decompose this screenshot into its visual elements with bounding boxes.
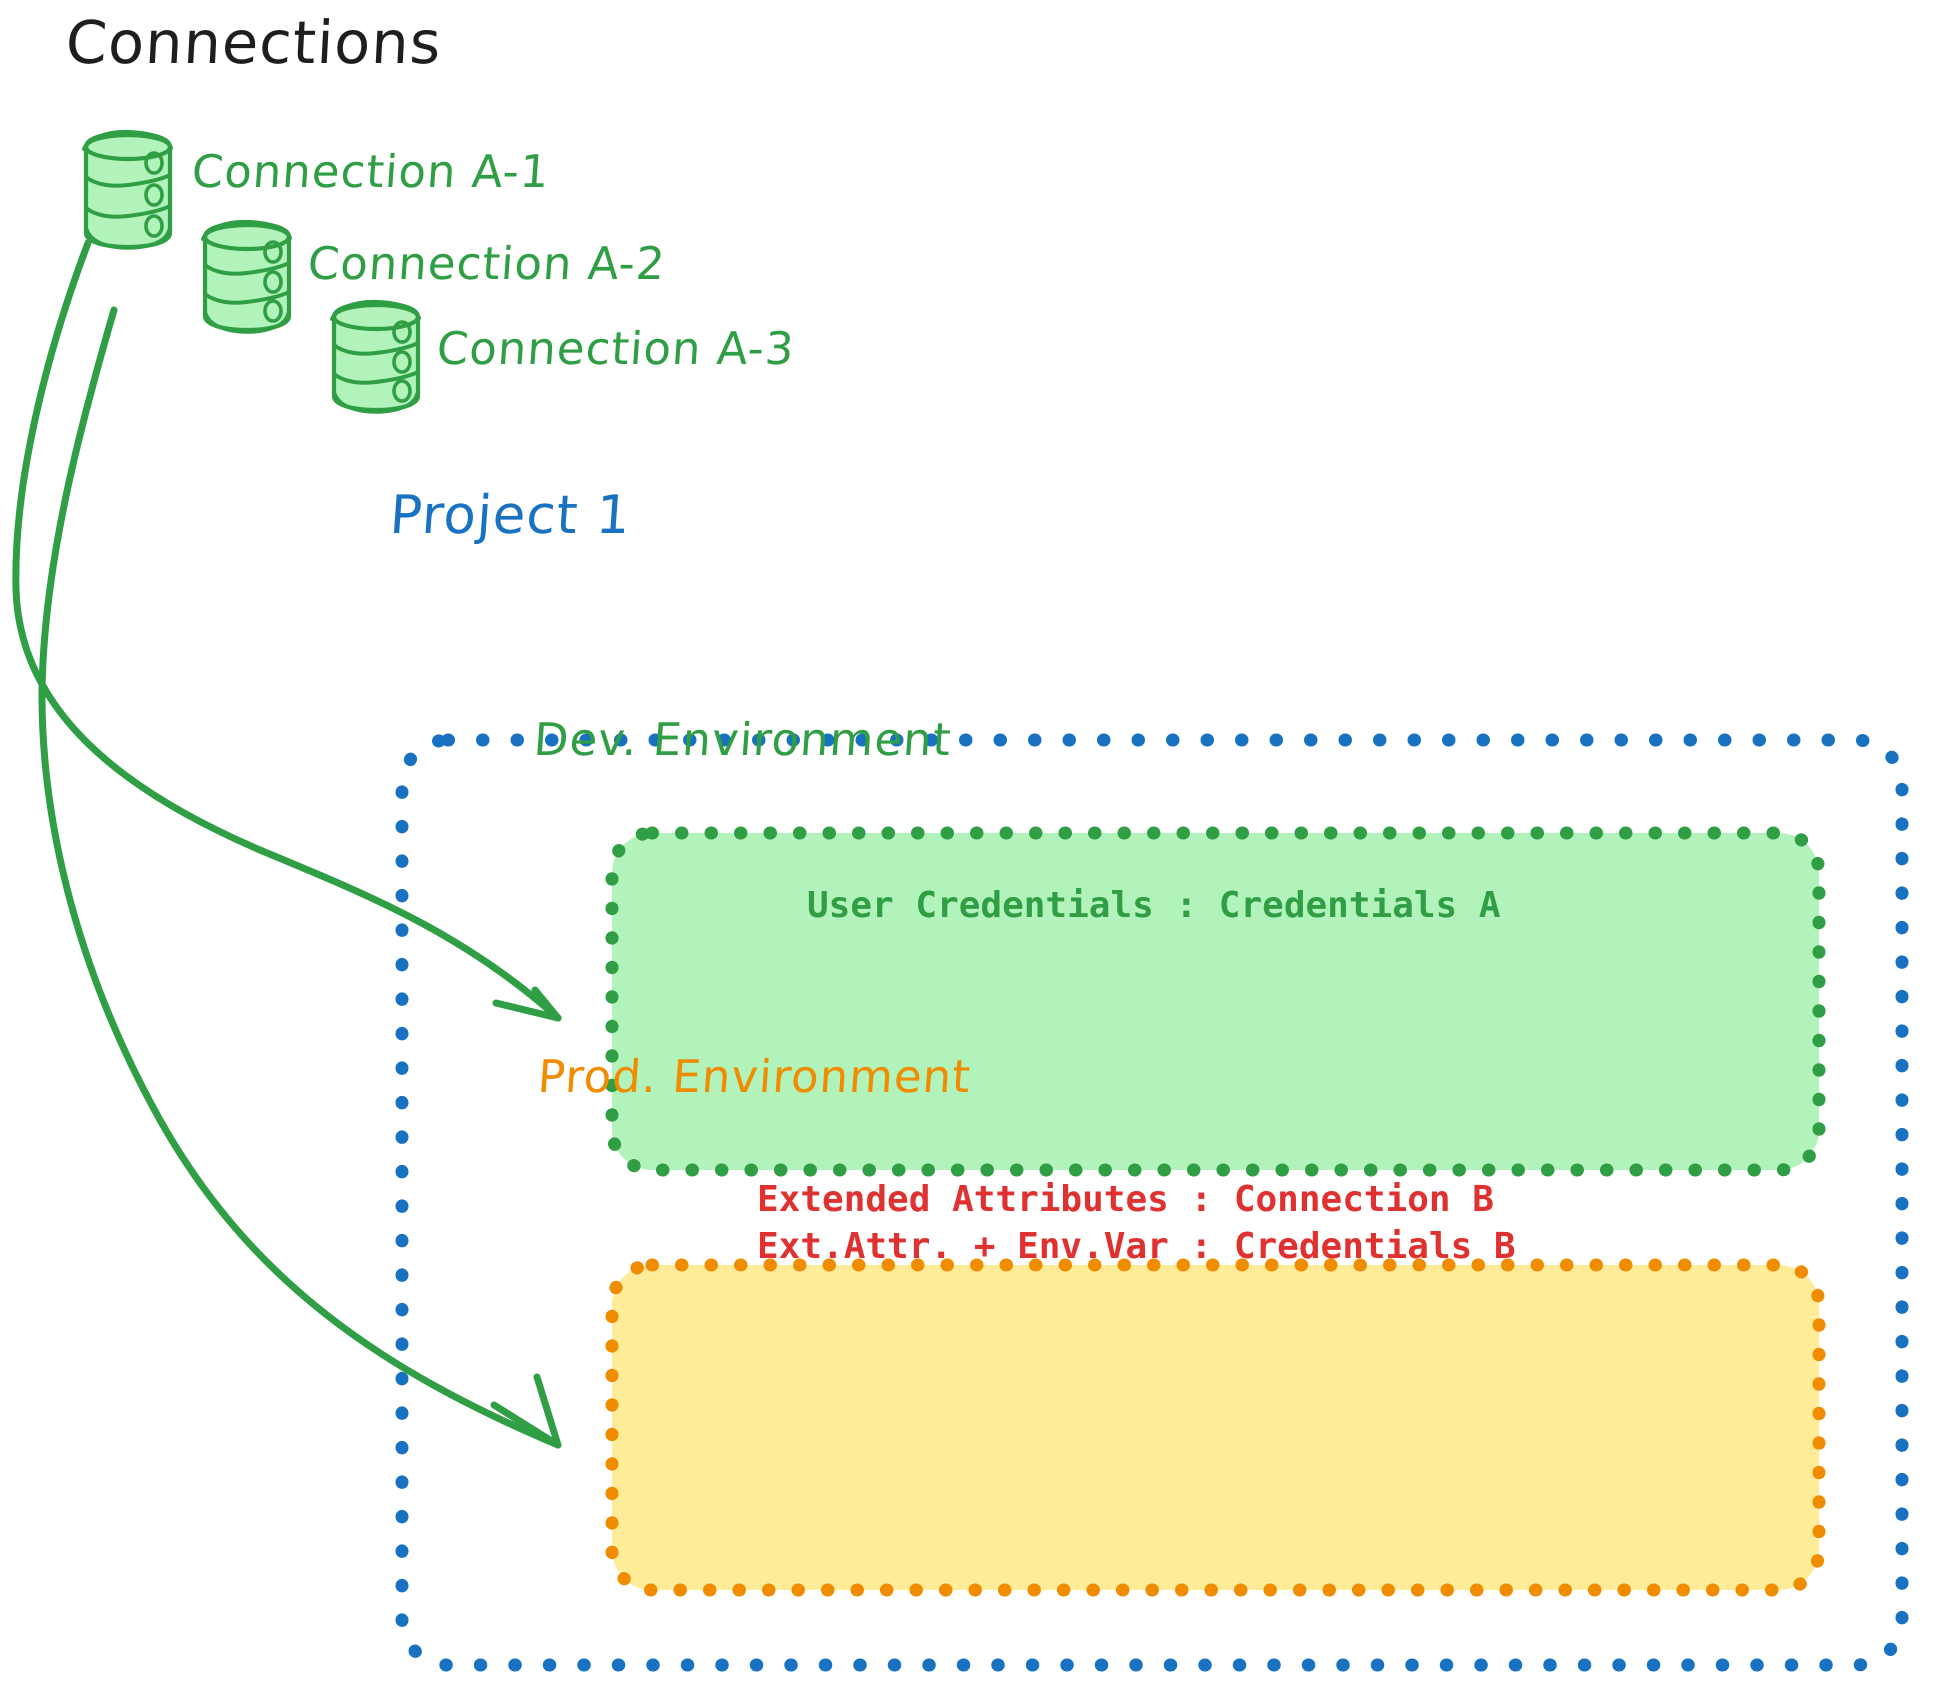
project-title: Project 1 (388, 485, 633, 546)
database-icon (84, 132, 171, 248)
diagram-sketch-layer (0, 0, 1938, 1691)
database-icon (203, 222, 290, 332)
prod-environment-row-extended-attributes: Extended Attributes : Connection B (757, 1179, 1494, 1220)
connection-label-a1: Connection A-1 (190, 145, 551, 198)
dev-environment-box (612, 833, 1819, 1170)
prod-environment-row-ext-attr-env-var: Ext.Attr. + Env.Var : Credentials B (757, 1226, 1516, 1267)
page-title: Connections (64, 8, 443, 77)
dev-environment-row-user-credentials: User Credentials : Credentials A (807, 885, 1501, 926)
prod-environment-title: Prod. Environment (536, 1050, 973, 1103)
dev-environment-title: Dev. Environment (532, 713, 953, 766)
prod-environment-box (612, 1265, 1819, 1590)
diagram-canvas: Connections Connection A-1 Connection A-… (0, 0, 1938, 1691)
database-icon (332, 302, 419, 412)
connection-label-a3: Connection A-3 (435, 322, 796, 375)
arrow-connection-to-prod (42, 310, 558, 1445)
connection-label-a2: Connection A-2 (306, 237, 667, 290)
